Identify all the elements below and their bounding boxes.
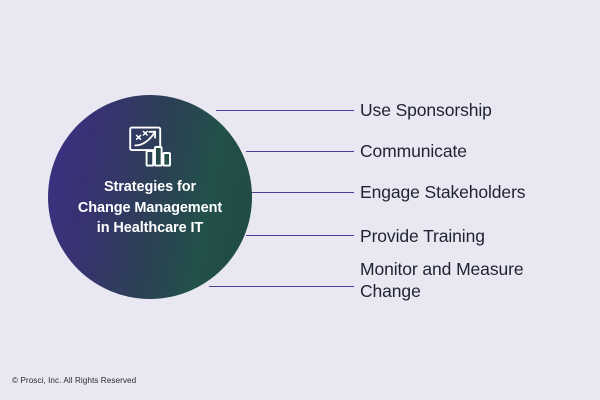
hub-title-line-1: Strategies for	[60, 177, 240, 198]
hub-title-line-3: in Healthcare IT	[60, 218, 240, 239]
list-item-provide-training: Provide Training	[360, 226, 485, 248]
connector-line-2	[246, 151, 354, 152]
connector-line-3	[252, 192, 354, 193]
connector-line-1	[216, 110, 354, 111]
central-hub: Strategies for Change Management in Heal…	[48, 95, 252, 299]
connector-line-5	[209, 286, 354, 287]
infographic-canvas: Strategies for Change Management in Heal…	[0, 0, 600, 400]
list-item-communicate: Communicate	[360, 141, 467, 163]
hub-title-line-2: Change Management	[60, 198, 240, 219]
list-item-use-sponsorship: Use Sponsorship	[360, 100, 492, 122]
hub-title: Strategies for Change Management in Heal…	[60, 177, 240, 239]
list-item-monitor-and-measure-change: Monitor and Measure Change	[360, 259, 523, 303]
connector-line-4	[246, 235, 354, 236]
footer-copyright: © Prosci, Inc. All Rights Reserved	[12, 376, 136, 385]
list-item-engage-stakeholders: Engage Stakeholders	[360, 182, 525, 204]
strategy-board-chart-icon	[127, 125, 173, 169]
